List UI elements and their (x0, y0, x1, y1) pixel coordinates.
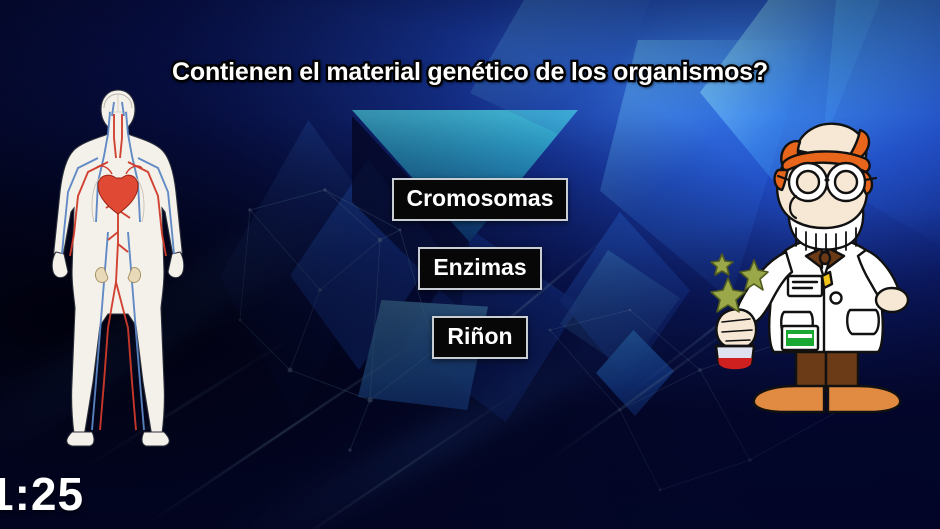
answer-option-enzimas[interactable]: Enzimas (418, 247, 541, 290)
cartoon-scientist-illustration (700, 100, 940, 420)
question-text: Contienen el material genético de los or… (0, 58, 940, 87)
answer-option-rinon[interactable]: Riñon (432, 316, 527, 359)
answer-option-cromosomas[interactable]: Cromosomas (392, 178, 569, 221)
quiz-screen: Contienen el material genético de los or… (0, 0, 940, 529)
countdown-timer: 1:25 (0, 467, 84, 521)
answer-options-list: Cromosomas Enzimas Riñon (300, 178, 660, 359)
circulatory-system-illustration (38, 82, 198, 452)
